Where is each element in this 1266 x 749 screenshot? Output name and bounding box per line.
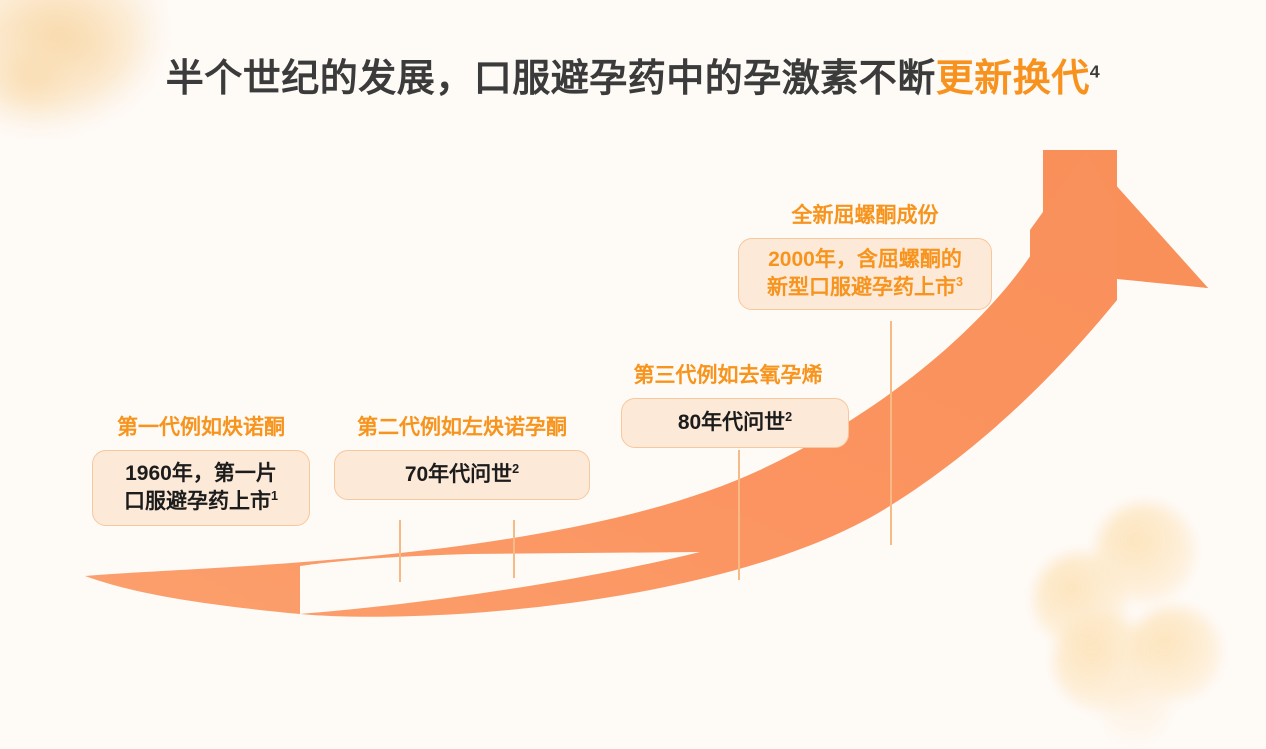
milestone-gen-2: 第二代例如左炔诺孕酮 70年代问世2 [330,415,594,500]
milestone-gen-4-line2: 新型口服避孕药上市 [767,276,956,299]
milestone-gen-4-box: 2000年，含屈螺酮的 新型口服避孕药上市3 [738,238,992,310]
milestone-gen-4-footnote-marker: 3 [956,275,963,289]
milestone-gen-2-header: 第二代例如左炔诺孕酮 [330,415,594,440]
milestone-gen-1: 第一代例如炔诺酮 1960年，第一片 口服避孕药上市1 [76,415,326,526]
page-title-footnote-marker: 4 [1090,61,1100,81]
milestone-gen-4-line1: 2000年，含屈螺酮的 [768,248,962,271]
milestone-gen-4: 全新屈螺酮成份 2000年，含屈螺酮的 新型口服避孕药上市3 [736,203,994,310]
milestone-gen-3-line1: 80年代问世 [678,411,785,434]
milestone-gen-3-box: 80年代问世2 [621,398,849,448]
milestone-gen-3-header: 第三代例如去氧孕烯 [607,363,849,388]
milestone-gen-2-box: 70年代问世2 [334,450,590,500]
connector-line-gen-4 [890,321,892,545]
connector-line-gen-1 [399,520,401,582]
milestone-gen-1-footnote-marker: 1 [271,489,278,503]
page-title: 半个世纪的发展，口服避孕药中的孕激素不断更新换代4 [0,47,1266,102]
milestone-gen-4-header: 全新屈螺酮成份 [736,203,994,228]
connector-line-gen-2 [513,520,515,578]
page-title-highlight: 更新换代 [936,58,1090,100]
milestone-gen-3: 第三代例如去氧孕烯 80年代问世2 [607,363,849,448]
milestone-gen-3-footnote-marker: 2 [785,410,792,424]
milestone-gen-1-box: 1960年，第一片 口服避孕药上市1 [92,450,310,526]
milestone-gen-1-line1: 1960年，第一片 [125,462,277,485]
milestone-gen-2-line1: 70年代问世 [405,463,512,486]
flower-petal-icon [1100,663,1170,749]
page-title-lead: 半个世纪的发展，口服避孕药中的孕激素不断 [166,58,936,100]
milestone-gen-1-line2: 口服避孕药上市 [124,490,271,513]
connector-line-gen-3 [738,450,740,580]
milestone-gen-2-footnote-marker: 2 [512,462,519,476]
milestone-gen-1-header: 第一代例如炔诺酮 [76,415,326,440]
